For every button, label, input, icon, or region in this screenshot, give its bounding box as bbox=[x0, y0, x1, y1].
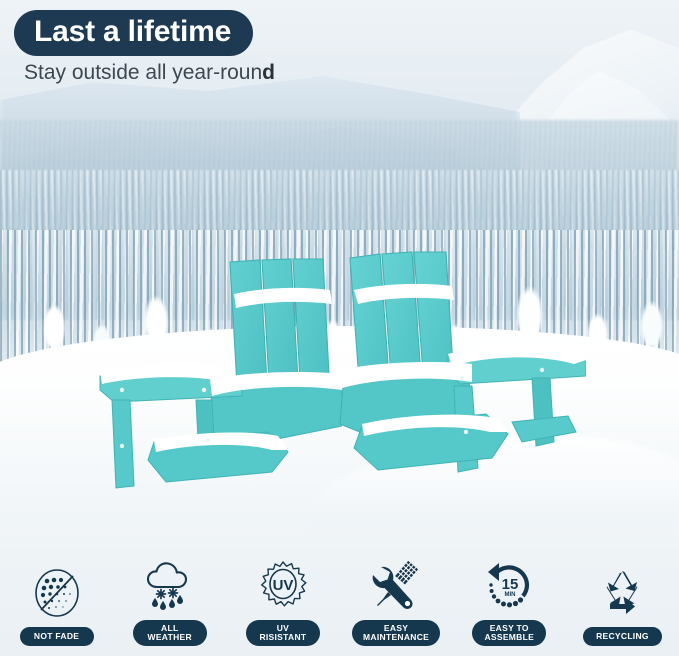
label-text-line2: WEATHER bbox=[148, 633, 192, 642]
feature-item-recycling: RECYCLING bbox=[566, 566, 679, 646]
feature-item-all-weather: ALL WEATHER bbox=[113, 559, 226, 646]
label-text: NOT FADE bbox=[34, 632, 79, 641]
adirondack-chair-left bbox=[92, 250, 342, 490]
adirondack-chair-right bbox=[336, 236, 586, 481]
page-subtitle: Stay outside all year-round bbox=[24, 61, 275, 85]
feature-label-not-fade: NOT FADE bbox=[20, 627, 94, 646]
product-feature-banner: Last a lifetime Stay outside all year-ro… bbox=[0, 0, 679, 656]
subtitle-regular-text: Stay outside all year-roun bbox=[24, 61, 262, 84]
uv-resistant-icon: UV bbox=[258, 559, 308, 613]
feature-label-easy-maintenance: EASY MAINTENANCE bbox=[352, 620, 440, 646]
all-weather-icon bbox=[144, 559, 196, 613]
label-text-line2: ASSEMBLE bbox=[484, 633, 534, 642]
feature-label-easy-to-assemble: EASY TO ASSEMBLE bbox=[472, 620, 546, 646]
label-text-line2: MAINTENANCE bbox=[363, 633, 429, 642]
recycling-icon bbox=[596, 566, 648, 620]
timer-minutes-text: 15 bbox=[502, 576, 519, 593]
uv-icon-text: UV bbox=[273, 577, 294, 594]
subtitle-bold-text: d bbox=[262, 61, 275, 84]
header-block: Last a lifetime Stay outside all year-ro… bbox=[14, 10, 275, 85]
label-text-line2: RISISTANT bbox=[259, 633, 306, 642]
feature-item-not-fade: NOT FADE bbox=[0, 566, 113, 646]
label-text: RECYCLING bbox=[596, 632, 649, 641]
feature-label-all-weather: ALL WEATHER bbox=[133, 620, 207, 646]
feature-label-uv-resistant: UV RISISTANT bbox=[246, 620, 320, 646]
feature-item-uv-resistant: UV UV RISISTANT bbox=[226, 559, 339, 646]
easy-to-assemble-icon: 15 MIN bbox=[483, 559, 535, 613]
easy-maintenance-icon bbox=[369, 559, 423, 613]
timer-unit-text: MIN bbox=[505, 592, 516, 598]
feature-icon-row: NOT FADE bbox=[0, 550, 679, 646]
not-fade-icon bbox=[33, 566, 81, 620]
feature-item-easy-to-assemble: 15 MIN EASY TO ASSEMBLE bbox=[453, 559, 566, 646]
feature-label-recycling: RECYCLING bbox=[583, 627, 662, 646]
page-title: Last a lifetime bbox=[14, 10, 253, 56]
feature-item-easy-maintenance: EASY MAINTENANCE bbox=[340, 559, 453, 646]
